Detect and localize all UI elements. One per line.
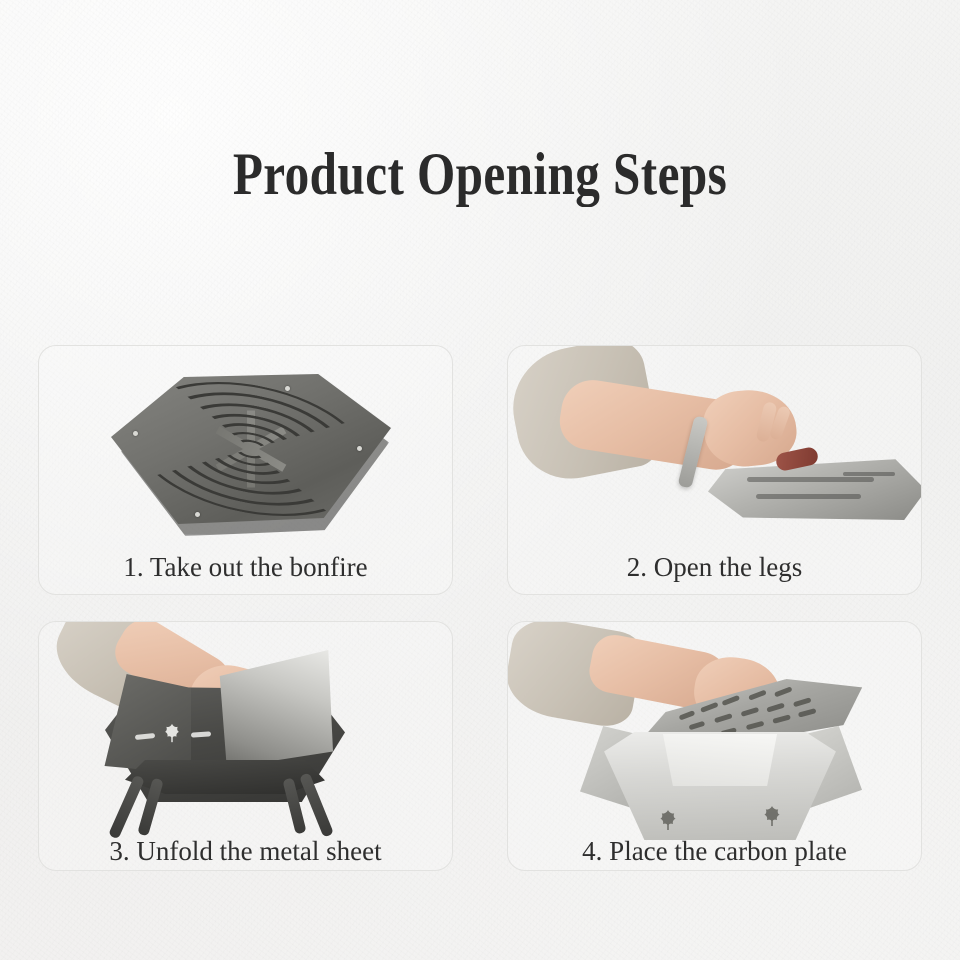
plate-perforation bbox=[748, 690, 767, 701]
plate-perforation bbox=[793, 698, 812, 708]
hex-grill-plate bbox=[111, 374, 391, 524]
plate-perforation bbox=[700, 701, 719, 712]
plate-perforation bbox=[746, 721, 765, 730]
step-3-photo bbox=[39, 622, 452, 840]
plate-rivet bbox=[285, 386, 290, 391]
plate-rivet bbox=[195, 512, 200, 517]
step-1-caption: 1. Take out the bonfire bbox=[39, 550, 452, 584]
body-groove bbox=[747, 477, 873, 482]
plate-perforation bbox=[772, 715, 791, 724]
leaf-logo-icon bbox=[760, 804, 784, 828]
body-groove bbox=[843, 472, 895, 476]
plate-perforation bbox=[722, 695, 741, 706]
leaf-logo-icon bbox=[161, 722, 183, 744]
body-groove bbox=[756, 494, 861, 499]
plate-perforation bbox=[774, 686, 793, 697]
step-3-caption: 3. Unfold the metal sheet bbox=[39, 834, 452, 868]
plate-perforation bbox=[714, 713, 733, 723]
step-card-2[interactable]: 2. Open the legs bbox=[507, 345, 922, 595]
plate-perforation bbox=[740, 707, 759, 717]
step-4-caption: 4. Place the carbon plate bbox=[508, 834, 921, 868]
plate-perforation bbox=[679, 710, 696, 720]
steps-grid: 1. Take out the bonfire 2. Open the legs bbox=[38, 345, 922, 915]
step-4-photo bbox=[508, 622, 921, 840]
leaf-logo-icon bbox=[656, 808, 680, 832]
bowl-inner-panel bbox=[658, 734, 782, 786]
step-2-photo bbox=[508, 346, 921, 536]
step-card-1[interactable]: 1. Take out the bonfire bbox=[38, 345, 453, 595]
plate-perforation bbox=[798, 709, 817, 718]
step-2-caption: 2. Open the legs bbox=[508, 550, 921, 584]
step-card-3[interactable]: 3. Unfold the metal sheet bbox=[38, 621, 453, 871]
plate-perforation bbox=[688, 721, 705, 730]
step-1-photo bbox=[39, 346, 452, 536]
bonfire-plate-illustration bbox=[111, 374, 391, 524]
plate-perforation bbox=[766, 702, 785, 712]
page-title: Product Opening Steps bbox=[86, 138, 873, 210]
step-card-4[interactable]: 4. Place the carbon plate bbox=[507, 621, 922, 871]
folded-stove-body bbox=[708, 458, 921, 520]
